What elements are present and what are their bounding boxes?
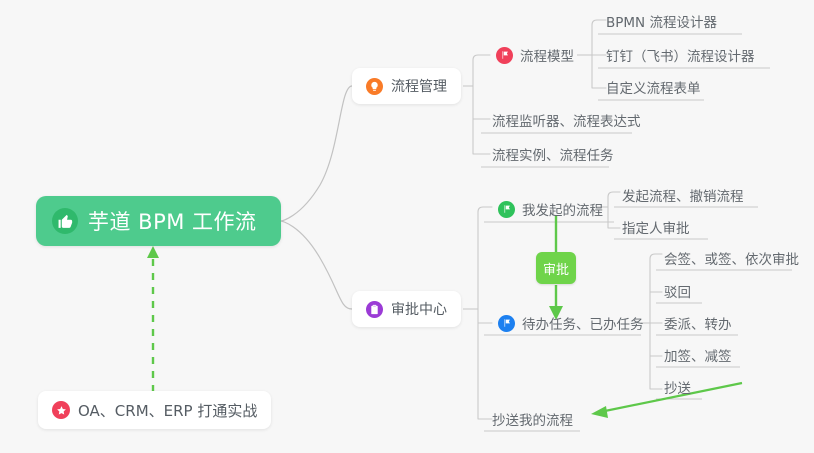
node-label: 我发起的流程 — [522, 199, 603, 219]
node-label: 会签、或签、依次审批 — [664, 248, 799, 268]
root-node[interactable]: 芋道 BPM 工作流 — [36, 196, 281, 246]
node-todo-done-tasks[interactable]: 待办任务、已办任务 — [492, 310, 652, 336]
branch-node-approval-center[interactable]: 审批中心 — [352, 291, 461, 327]
clipboard-icon — [366, 301, 383, 318]
branch-label: 审批中心 — [391, 299, 447, 319]
annotation-label: 审批 — [543, 259, 569, 278]
branch-label: 流程管理 — [391, 76, 447, 96]
node-label: 加签、减签 — [664, 345, 732, 365]
node-assignee-approval[interactable]: 指定人审批 — [616, 214, 698, 240]
star-icon — [52, 401, 70, 419]
annotation-label: OA、CRM、ERP 打通实战 — [78, 400, 257, 421]
lightbulb-icon — [366, 78, 383, 95]
node-label: 待办任务、已办任务 — [522, 313, 644, 333]
node-label: 流程模型 — [520, 45, 574, 65]
node-label: BPMN 流程设计器 — [606, 11, 717, 31]
node-cc[interactable]: 抄送 — [658, 374, 699, 400]
node-label: 抄送 — [664, 377, 691, 397]
node-custom-process-form[interactable]: 自定义流程表单 — [600, 74, 709, 100]
node-label: 委派、转办 — [664, 313, 732, 333]
node-label: 流程监听器、流程表达式 — [492, 110, 641, 130]
node-label: 自定义流程表单 — [606, 77, 701, 97]
node-process-listener-expression[interactable]: 流程监听器、流程表达式 — [486, 107, 649, 133]
branch-node-process-management[interactable]: 流程管理 — [352, 68, 461, 104]
node-process-instance-task[interactable]: 流程实例、流程任务 — [486, 141, 622, 167]
node-delegate-transfer[interactable]: 委派、转办 — [658, 310, 740, 336]
node-start-cancel-process[interactable]: 发起流程、撤销流程 — [616, 182, 752, 208]
node-label: 发起流程、撤销流程 — [622, 185, 744, 205]
highlight-dashed-arrow — [147, 246, 159, 392]
node-reject[interactable]: 驳回 — [658, 278, 699, 304]
node-label: 驳回 — [664, 281, 691, 301]
flag-icon — [496, 47, 513, 64]
node-label: 指定人审批 — [622, 217, 690, 237]
node-countersign-orsign-sequential[interactable]: 会签、或签、依次审批 — [658, 245, 807, 271]
flag-icon — [498, 201, 515, 218]
mindmap-canvas: 芋道 BPM 工作流 流程管理 流程模型 BPMN 流程设计器 钉钉（飞书）流程… — [0, 0, 814, 453]
node-bpmn-designer[interactable]: BPMN 流程设计器 — [600, 8, 725, 34]
node-label: 抄送我的流程 — [492, 409, 573, 429]
node-add-remove-sign[interactable]: 加签、减签 — [658, 342, 740, 368]
thumbs-up-icon — [52, 208, 78, 234]
node-dingtalk-feishu-designer[interactable]: 钉钉（飞书）流程设计器 — [600, 42, 763, 68]
annotation-approval-box: 审批 — [536, 252, 576, 284]
root-node-label: 芋道 BPM 工作流 — [88, 206, 257, 236]
node-my-initiated-process[interactable]: 我发起的流程 — [492, 196, 611, 222]
node-label: 钉钉（飞书）流程设计器 — [606, 45, 755, 65]
annotation-integration-pill[interactable]: OA、CRM、ERP 打通实战 — [38, 391, 271, 429]
node-label: 流程实例、流程任务 — [492, 144, 614, 164]
node-cc-to-me-process[interactable]: 抄送我的流程 — [486, 406, 581, 432]
node-process-model[interactable]: 流程模型 — [490, 42, 582, 68]
flag-icon — [498, 315, 515, 332]
